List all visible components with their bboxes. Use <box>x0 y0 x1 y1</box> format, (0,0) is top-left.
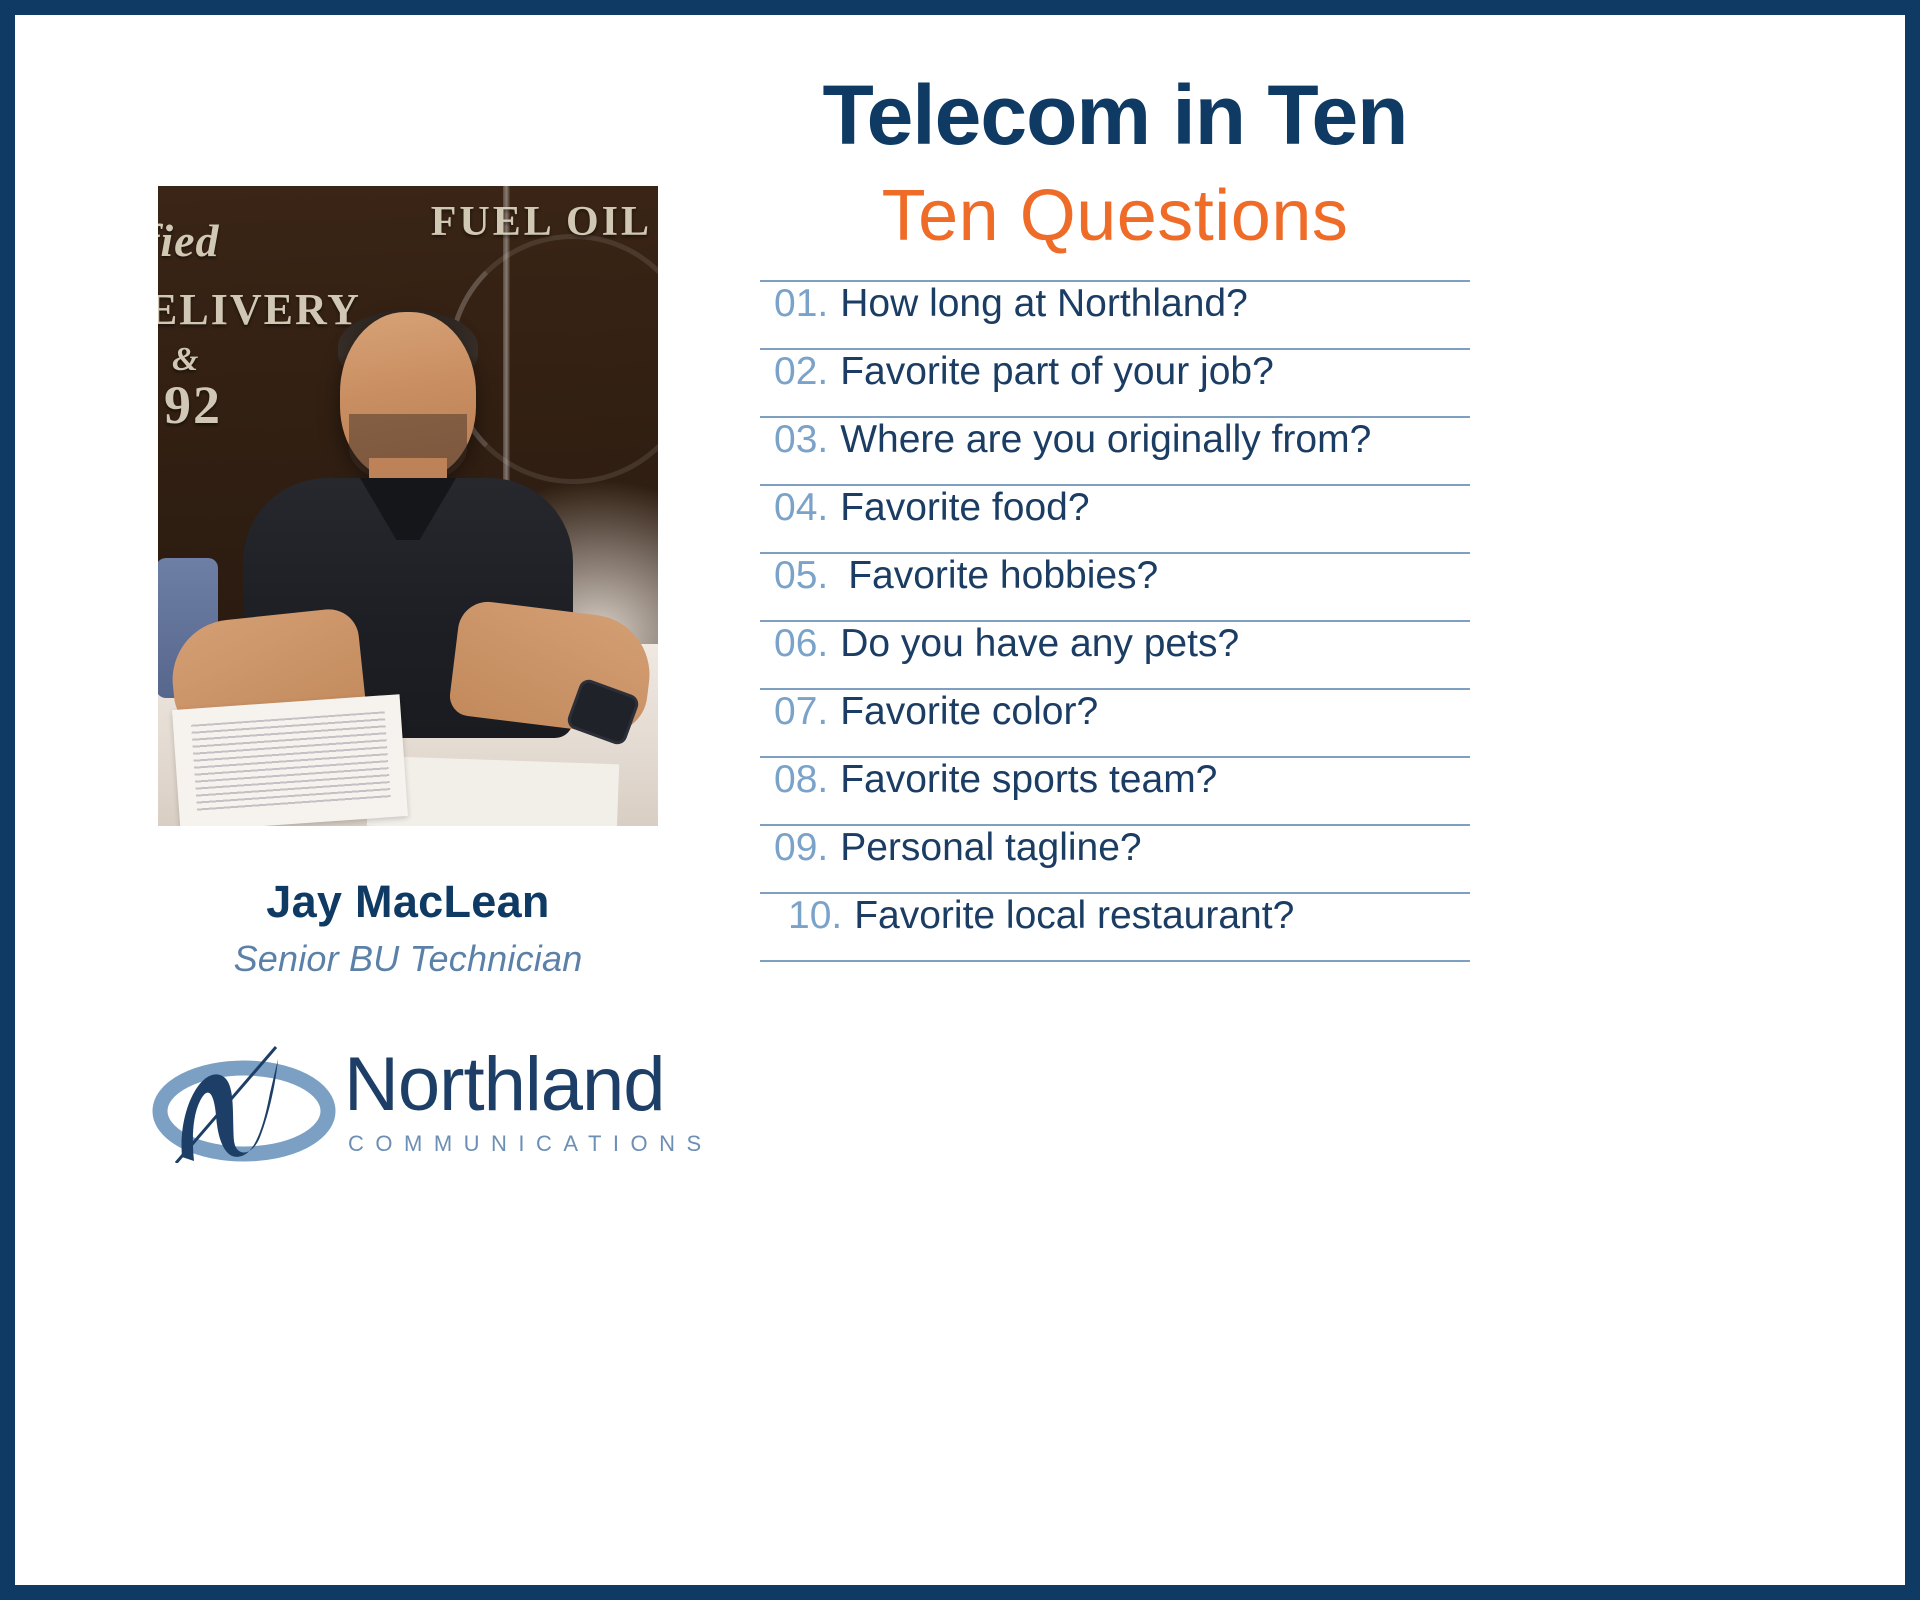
questions-column: Telecom in Ten Ten Questions 01. How lon… <box>760 70 1470 962</box>
list-item: 01. How long at Northland? <box>760 282 1470 350</box>
question-text: Personal tagline? <box>840 826 1141 870</box>
list-item: 04. Favorite food? <box>760 486 1470 554</box>
question-number: 07. <box>774 690 828 734</box>
question-text: Favorite part of your job? <box>840 350 1274 394</box>
question-number: 05. <box>774 554 828 598</box>
question-number: 04. <box>774 486 828 530</box>
wall-text-delivery: ELIVERY <box>158 284 361 335</box>
wall-text-script: fied <box>158 214 220 267</box>
person-name: Jay MacLean <box>143 876 673 928</box>
northland-tagline: COMMUNICATIONS <box>348 1131 713 1157</box>
person-role: Senior BU Technician <box>143 938 673 980</box>
list-item: 02. Favorite part of your job? <box>760 350 1470 418</box>
list-item: 07. Favorite color? <box>760 690 1470 758</box>
list-item: 10. Favorite local restaurant? <box>760 894 1470 962</box>
profile-photo: fied ELIVERY & 92 FUEL OIL <box>158 186 658 826</box>
question-text: Favorite sports team? <box>840 758 1217 802</box>
wall-text-ampersand: & <box>172 341 198 379</box>
wall-text-number: 92 <box>164 374 222 436</box>
northland-logo: Northland COMMUNICATIONS <box>148 1031 668 1176</box>
question-list: 01. How long at Northland? 02. Favorite … <box>760 280 1470 962</box>
fuel-tank-arc <box>448 234 658 484</box>
profile-column: fied ELIVERY & 92 FUEL OIL <box>143 186 673 1506</box>
page-title: Telecom in Ten <box>760 70 1470 161</box>
question-text: Do you have any pets? <box>840 622 1239 666</box>
poster-canvas: fied ELIVERY & 92 FUEL OIL <box>15 15 1905 1585</box>
northland-wordmark: Northland <box>344 1047 665 1123</box>
question-number: 02. <box>774 350 828 394</box>
list-item: 08. Favorite sports team? <box>760 758 1470 826</box>
question-text: Favorite local restaurant? <box>854 894 1294 938</box>
paper-sheet <box>172 694 408 826</box>
question-text: How long at Northland? <box>840 282 1248 326</box>
photo-background: fied ELIVERY & 92 FUEL OIL <box>158 186 658 826</box>
northland-swoosh-icon <box>148 1045 348 1163</box>
question-number: 01. <box>774 282 828 326</box>
question-number: 09. <box>774 826 828 870</box>
question-text: Favorite food? <box>840 486 1089 530</box>
paper-text-lines <box>191 711 391 814</box>
list-item: 09. Personal tagline? <box>760 826 1470 894</box>
list-item: 03. Where are you originally from? <box>760 418 1470 486</box>
page-subtitle: Ten Questions <box>760 177 1470 256</box>
question-number: 03. <box>774 418 828 462</box>
question-number: 06. <box>774 622 828 666</box>
question-number: 08. <box>774 758 828 802</box>
question-text: Favorite color? <box>840 690 1098 734</box>
list-item: 06. Do you have any pets? <box>760 622 1470 690</box>
list-item: 05. Favorite hobbies? <box>760 554 1470 622</box>
poster-frame: fied ELIVERY & 92 FUEL OIL <box>0 0 1920 1600</box>
question-number: 10. <box>788 894 842 938</box>
question-text: Where are you originally from? <box>840 418 1371 462</box>
question-text: Favorite hobbies? <box>848 554 1158 598</box>
